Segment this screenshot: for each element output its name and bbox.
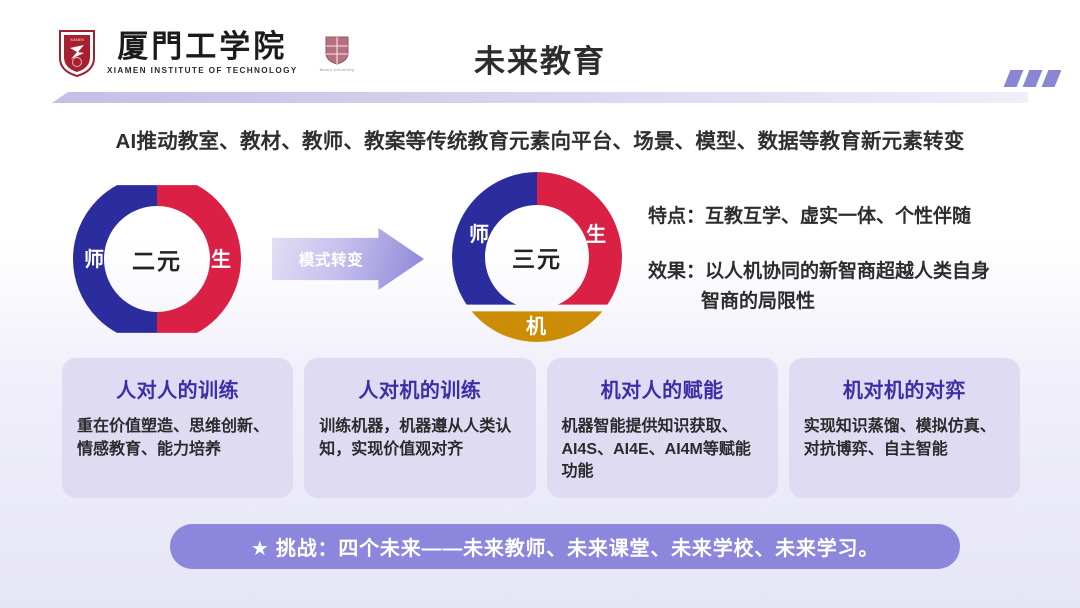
slide-header: XIAMEN 厦門工学院 XIAMEN INSTITUTE OF TECHNOL…	[0, 0, 1080, 105]
slash-icon-1	[1004, 70, 1024, 87]
note-feature: 特点：互教互学、虚实一体、个性伴随	[648, 202, 1058, 231]
card-body: 重在价值塑造、思维创新、情感教育、能力培养	[77, 416, 278, 461]
diagram-notes: 特点：互教互学、虚实一体、个性伴随 效果：以人机协同的新智商超越人类自身 智商的…	[648, 202, 1058, 316]
challenge-banner-text: ★ 挑战：四个未来——未来教师、未来课堂、未来学校、未来学习。	[251, 532, 879, 561]
header-divider	[52, 92, 1028, 103]
slide-subtitle: AI推动教室、教材、教师、教案等传统教育元素向平台、场景、模型、数据等教育新元素…	[0, 124, 1080, 154]
note-effect-text: 以人机协同的新智商超越人类自身	[705, 261, 990, 282]
decorative-slashes	[1007, 70, 1058, 87]
note-effect: 效果：以人机协同的新智商超越人类自身 智商的局限性	[648, 257, 1058, 316]
ring-center-label-two: 二元	[73, 175, 241, 343]
card-title: 人对机的训练	[319, 374, 520, 403]
card-human-to-human[interactable]: 人对人的训练 重在价值塑造、思维创新、情感教育、能力培养	[62, 358, 293, 498]
note-feature-text: 互教互学、虚实一体、个性伴随	[705, 206, 971, 227]
card-body: 机器智能提供知识获取、AI4S、AI4E、AI4M等赋能功能	[562, 416, 763, 484]
card-title: 人对人的训练	[77, 374, 278, 403]
card-machine-to-human[interactable]: 机对人的赋能 机器智能提供知识获取、AI4S、AI4E、AI4M等赋能功能	[547, 358, 778, 498]
card-title: 机对人的赋能	[562, 374, 763, 403]
card-human-to-machine[interactable]: 人对机的训练 训练机器，机器遵从人类认知，实现价值观对齐	[304, 358, 535, 498]
arrow-label: 模式转变	[282, 248, 380, 270]
card-title: 机对机的对弈	[804, 374, 1005, 403]
card-body: 训练机器，机器遵从人类认知，实现价值观对齐	[319, 416, 520, 461]
transition-arrow: 模式转变	[272, 228, 424, 290]
card-row: 人对人的训练 重在价值塑造、思维创新、情感教育、能力培养 人对机的训练 训练机器…	[62, 358, 1020, 498]
card-body: 实现知识蒸馏、模拟仿真、对抗博弈、自主智能	[804, 416, 1005, 461]
two-element-ring-diagram: 师 生 二元	[73, 175, 241, 343]
card-machine-to-machine[interactable]: 机对机的对弈 实现知识蒸馏、模拟仿真、对抗博弈、自主智能	[789, 358, 1020, 498]
diagram-row: 师 生 二元 模式转变 师 生 机 三元 特点：互教互学、虚实一体、个性伴随 效…	[0, 172, 1080, 347]
note-feature-label: 特点：	[648, 206, 705, 227]
challenge-banner: ★ 挑战：四个未来——未来教师、未来课堂、未来学校、未来学习。	[170, 524, 960, 569]
three-element-ring-diagram: 师 生 机 三元	[452, 172, 622, 342]
ring-center-label-three: 三元	[452, 172, 622, 342]
slide-canvas: XIAMEN 厦門工学院 XIAMEN INSTITUTE OF TECHNOL…	[0, 0, 1080, 608]
note-effect-label: 效果：	[648, 261, 705, 282]
page-title: 未来教育	[0, 36, 1080, 81]
slash-icon-2	[1023, 70, 1043, 87]
note-effect-text-continued: 智商的局限性	[648, 287, 1058, 316]
